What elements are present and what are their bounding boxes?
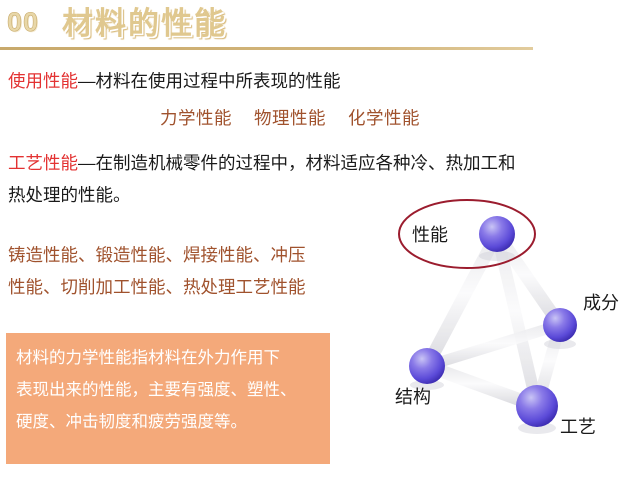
title-divider bbox=[0, 47, 533, 50]
title-number: 00 bbox=[7, 9, 39, 36]
node-composition bbox=[543, 308, 577, 342]
usage-performance-definition: —材料在使用过程中所表现的性能 bbox=[78, 71, 341, 91]
node-process bbox=[516, 385, 558, 427]
subtype-mechanical: 力学性能 bbox=[160, 108, 232, 128]
usage-performance-keyword: 使用性能 bbox=[8, 71, 78, 91]
process-performance-line-2: 热处理的性能。 bbox=[8, 180, 131, 210]
process-performance-line-1: 工艺性能—在制造机械零件的过程中，材料适应各种冷、热加工和 bbox=[8, 148, 516, 178]
node-structure bbox=[409, 348, 445, 384]
tetrahedron-nodes bbox=[409, 216, 577, 434]
slide-canvas: 00 材料的性能 使用性能—材料在使用过程中所表现的性能 力学性能物理性能化学性… bbox=[0, 0, 640, 480]
page-title: 材料的性能 bbox=[62, 5, 227, 44]
node-label-performance: 性能 bbox=[412, 226, 448, 244]
node-label-structure: 结构 bbox=[395, 388, 431, 406]
material-tetrahedron-diagram: 性能 成分 结构 工艺 bbox=[385, 190, 640, 480]
callout-line-2: 表现出来的性能，主要有强度、塑性、 bbox=[16, 374, 320, 406]
callout-line-3: 硬度、冲击韧度和疲劳强度等。 bbox=[16, 406, 320, 438]
callout-line-1: 材料的力学性能指材料在外力作用下 bbox=[16, 342, 320, 374]
mechanical-property-callout-box: 材料的力学性能指材料在外力作用下 表现出来的性能，主要有强度、塑性、 硬度、冲击… bbox=[6, 333, 330, 464]
performance-subtypes-line: 力学性能物理性能化学性能 bbox=[160, 103, 420, 133]
subtype-chemical: 化学性能 bbox=[348, 108, 420, 128]
process-performance-keyword: 工艺性能 bbox=[8, 153, 78, 173]
node-label-process: 工艺 bbox=[560, 418, 596, 436]
craft-performance-list-line-1: 铸造性能、锻造性能、焊接性能、冲压 bbox=[8, 240, 306, 270]
node-label-composition: 成分 bbox=[583, 294, 619, 312]
process-performance-definition: —在制造机械零件的过程中，材料适应各种冷、热加工和 bbox=[78, 153, 516, 173]
craft-performance-list-line-2: 性能、切削加工性能、热处理工艺性能 bbox=[8, 272, 306, 302]
node-performance bbox=[479, 216, 515, 252]
slide-header: 00 材料的性能 bbox=[0, 0, 640, 52]
subtype-physical: 物理性能 bbox=[254, 108, 326, 128]
usage-performance-line: 使用性能—材料在使用过程中所表现的性能 bbox=[8, 66, 341, 96]
